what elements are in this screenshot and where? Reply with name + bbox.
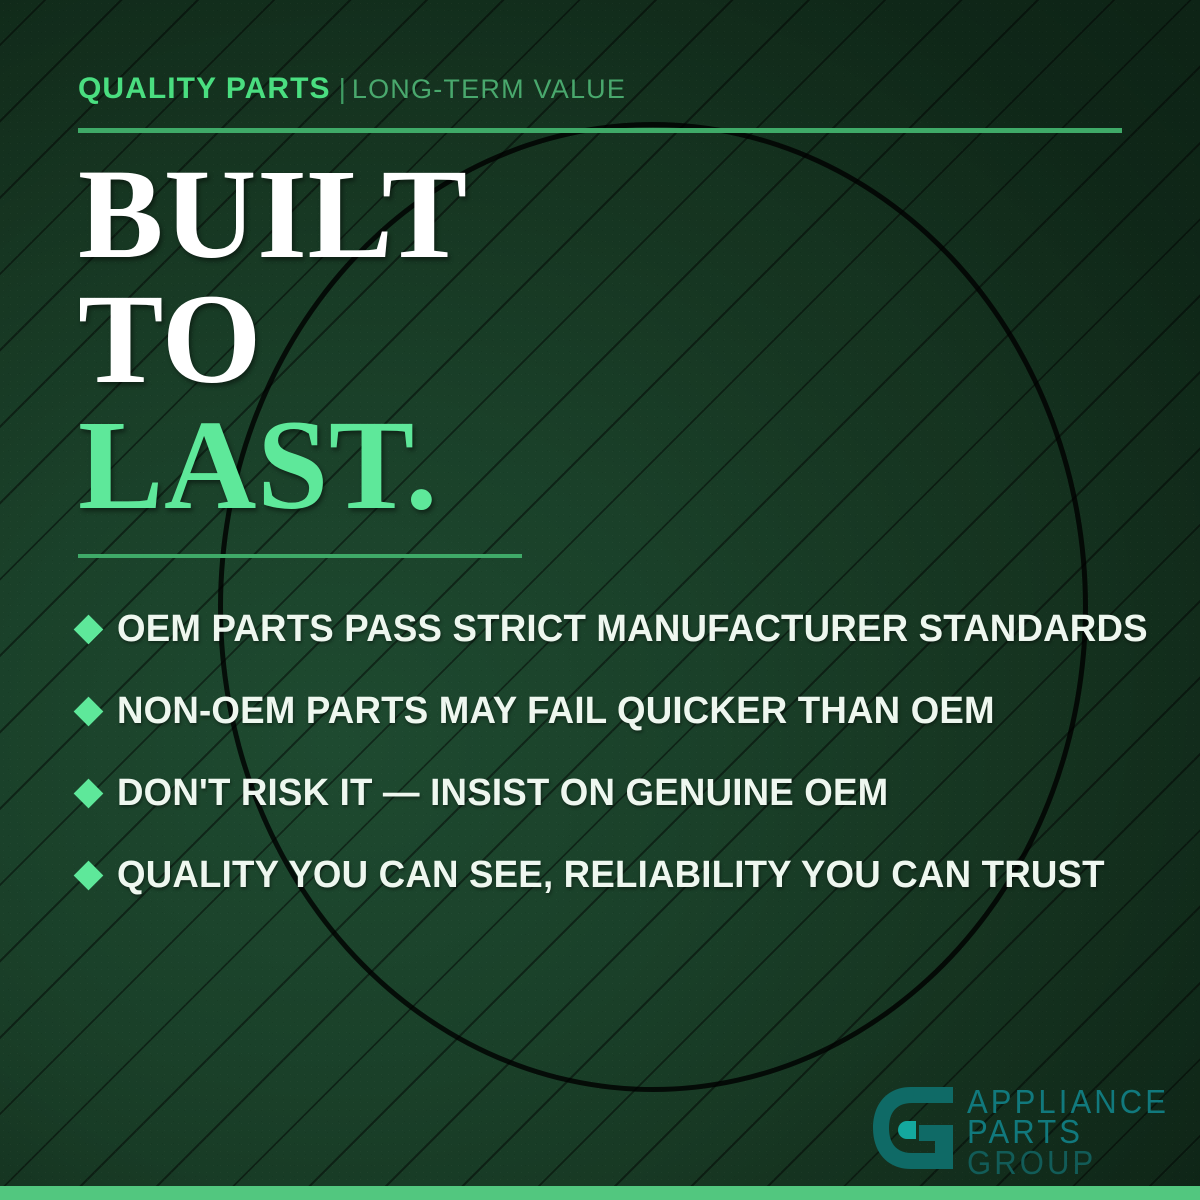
list-item: OEM PARTS PASS STRICT MANUFACTURER STAND… <box>78 588 1148 670</box>
header-divider-rule <box>78 128 1122 133</box>
list-item-label: NON-OEM PARTS MAY FAIL QUICKER THAN OEM <box>117 690 995 733</box>
brand-logo-wordmark: APPLIANCE PARTS GROUP <box>967 1085 1182 1178</box>
headline-line-1: BUILT <box>78 152 468 277</box>
poster-canvas: QUALITY PARTS|LONG-TERM VALUE BUILT TO L… <box>0 0 1200 1200</box>
eyebrow-sub-text: LONG-TERM VALUE <box>352 74 626 104</box>
diamond-bullet-icon <box>74 696 104 726</box>
eyebrow-kicker: QUALITY PARTS|LONG-TERM VALUE <box>78 74 626 104</box>
headline-line-2: TO <box>78 277 468 402</box>
appliance-parts-group-g-mark-icon <box>867 1085 955 1171</box>
diamond-bullet-icon <box>74 778 104 808</box>
headline-line-3: LAST. <box>78 403 468 528</box>
diamond-bullet-icon <box>74 614 104 644</box>
list-item-label: DON'T RISK IT — INSIST ON GENUINE OEM <box>117 772 888 815</box>
list-item: NON-OEM PARTS MAY FAIL QUICKER THAN OEM <box>78 670 1148 752</box>
bottom-accent-bar <box>0 1186 1200 1200</box>
list-item: DON'T RISK IT — INSIST ON GENUINE OEM <box>78 752 1148 834</box>
eyebrow-separator: | <box>339 73 346 104</box>
list-item-label: QUALITY YOU CAN SEE, RELIABILITY YOU CAN… <box>117 854 1105 897</box>
list-item-label: OEM PARTS PASS STRICT MANUFACTURER STAND… <box>117 608 1148 651</box>
bullet-list: OEM PARTS PASS STRICT MANUFACTURER STAND… <box>78 588 1148 916</box>
logo-word-group: GROUP <box>967 1148 1169 1178</box>
poster-content: QUALITY PARTS|LONG-TERM VALUE BUILT TO L… <box>0 0 1200 1200</box>
brand-logo: APPLIANCE PARTS GROUP <box>867 1085 1182 1178</box>
eyebrow-main-text: QUALITY PARTS <box>78 72 331 105</box>
list-item: QUALITY YOU CAN SEE, RELIABILITY YOU CAN… <box>78 834 1148 916</box>
diamond-bullet-icon <box>74 860 104 890</box>
headline: BUILT TO LAST. <box>78 152 468 528</box>
headline-divider-rule <box>78 554 522 558</box>
